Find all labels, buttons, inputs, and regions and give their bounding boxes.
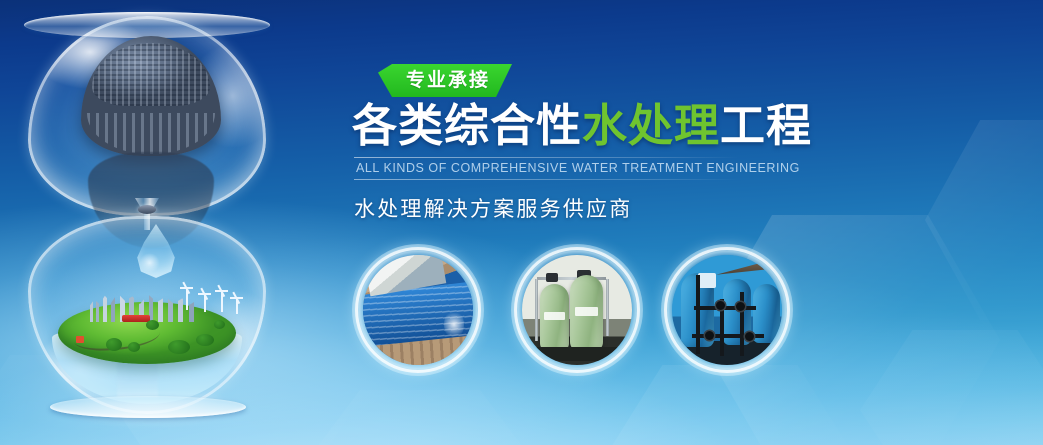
valve [546, 273, 558, 282]
divider-bottom [354, 179, 739, 180]
wind-turbine-icon [204, 294, 206, 312]
hourglass-bottom-rim [50, 396, 246, 418]
roof-beam [716, 257, 782, 275]
page-title: 各类综合性水处理工程 [352, 98, 752, 154]
background-hexagon [300, 390, 540, 445]
frp-tank [540, 284, 570, 352]
red-train-icon [122, 315, 150, 322]
background-hexagon [860, 330, 1043, 445]
pipe [535, 279, 538, 341]
island-house-icon [76, 336, 84, 343]
water-treatment-hero-banner: 专业承接 各类综合性水处理工程 ALL KINDS OF COMPREHENSI… [0, 0, 1043, 445]
gauge-panel [698, 273, 716, 288]
headline-block: 专业承接 各类综合性水处理工程 ALL KINDS OF COMPREHENSI… [352, 64, 752, 224]
valve [705, 331, 714, 340]
title-segment-white-2: 工程 [720, 99, 812, 152]
tank-base [533, 347, 621, 360]
hourglass-top-rim [24, 12, 270, 38]
pipe [606, 279, 609, 336]
filter-tank-image [522, 255, 632, 365]
pressure-vessel-image [672, 255, 782, 365]
wind-turbine-icon [221, 291, 223, 312]
circle-photo-inner [363, 255, 473, 365]
hourglass-illustration [18, 2, 276, 442]
hourglass-neck-band [138, 205, 156, 214]
photo-circle-group [352, 244, 802, 378]
wind-turbine-icon [236, 298, 238, 314]
title-segment-green: 水处理 [582, 99, 720, 152]
status-badge: 专业承接 [378, 64, 512, 97]
circle-photo-inner [522, 255, 632, 365]
frp-tank [570, 275, 603, 352]
wind-turbine-icon [186, 288, 188, 310]
circle-photo-inner [672, 255, 782, 365]
background-hexagon [925, 120, 1043, 320]
title-segment-white-1: 各类综合性 [352, 99, 582, 152]
tagline: 水处理解决方案服务供应商 [352, 194, 752, 224]
valve [745, 332, 754, 341]
photo-blue-pressure-vessels [661, 244, 793, 376]
photo-swimming-pool [352, 244, 484, 376]
status-badge-label: 专业承接 [406, 69, 490, 91]
english-subtitle: ALL KINDS OF COMPREHENSIVE WATER TREATME… [352, 158, 752, 179]
photo-frp-filter-tanks [511, 244, 643, 376]
pipe [696, 275, 700, 354]
pool-foam [444, 310, 464, 339]
